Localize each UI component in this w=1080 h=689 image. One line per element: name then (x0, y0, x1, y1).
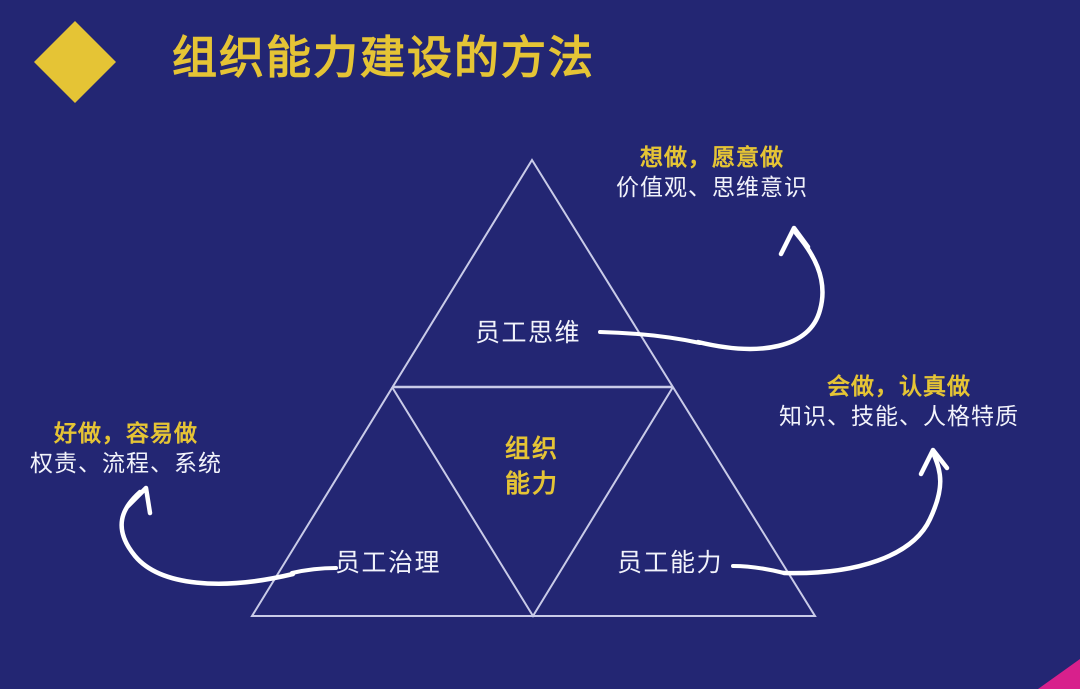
annotation-left-headline: 好做，容易做 (30, 418, 222, 448)
inverted-inner-triangle (392, 387, 673, 616)
annotation-right-headline: 会做，认真做 (779, 371, 1019, 401)
connector-mind (600, 332, 700, 343)
triangle-center-label: 组织 能力 (487, 432, 577, 501)
annotation-top-headline: 想做，愿意做 (616, 142, 808, 172)
arrow-curve-right (784, 455, 940, 573)
connector-govern (292, 568, 336, 573)
annotation-left: 好做，容易做 权责、流程、系统 (30, 418, 222, 479)
triangle-label-mind: 员工思维 (475, 313, 581, 349)
triangle-label-ability: 员工能力 (617, 543, 723, 579)
arrow-head-top (781, 228, 808, 254)
annotation-top-detail: 价值观、思维意识 (616, 174, 808, 200)
annotation-top: 想做，愿意做 价值观、思维意识 (616, 142, 808, 203)
center-label-line2: 能力 (505, 470, 559, 498)
slide-canvas: 组织能力建设的方法 员工思维 员工治理 员工能力 组织 能力 想做，愿意做 价值… (0, 0, 1080, 689)
annotation-right-detail: 知识、技能、人格特质 (779, 403, 1019, 429)
triangle-label-governance: 员工治理 (335, 543, 441, 579)
connector-ability (733, 566, 784, 573)
annotation-left-detail: 权责、流程、系统 (30, 450, 222, 476)
annotation-right: 会做，认真做 知识、技能、人格特质 (779, 371, 1019, 432)
arrow-curve-top (698, 233, 822, 349)
arrow-head-right (921, 450, 947, 474)
corner-accent-shape (1038, 659, 1080, 689)
center-label-line1: 组织 (505, 435, 559, 463)
